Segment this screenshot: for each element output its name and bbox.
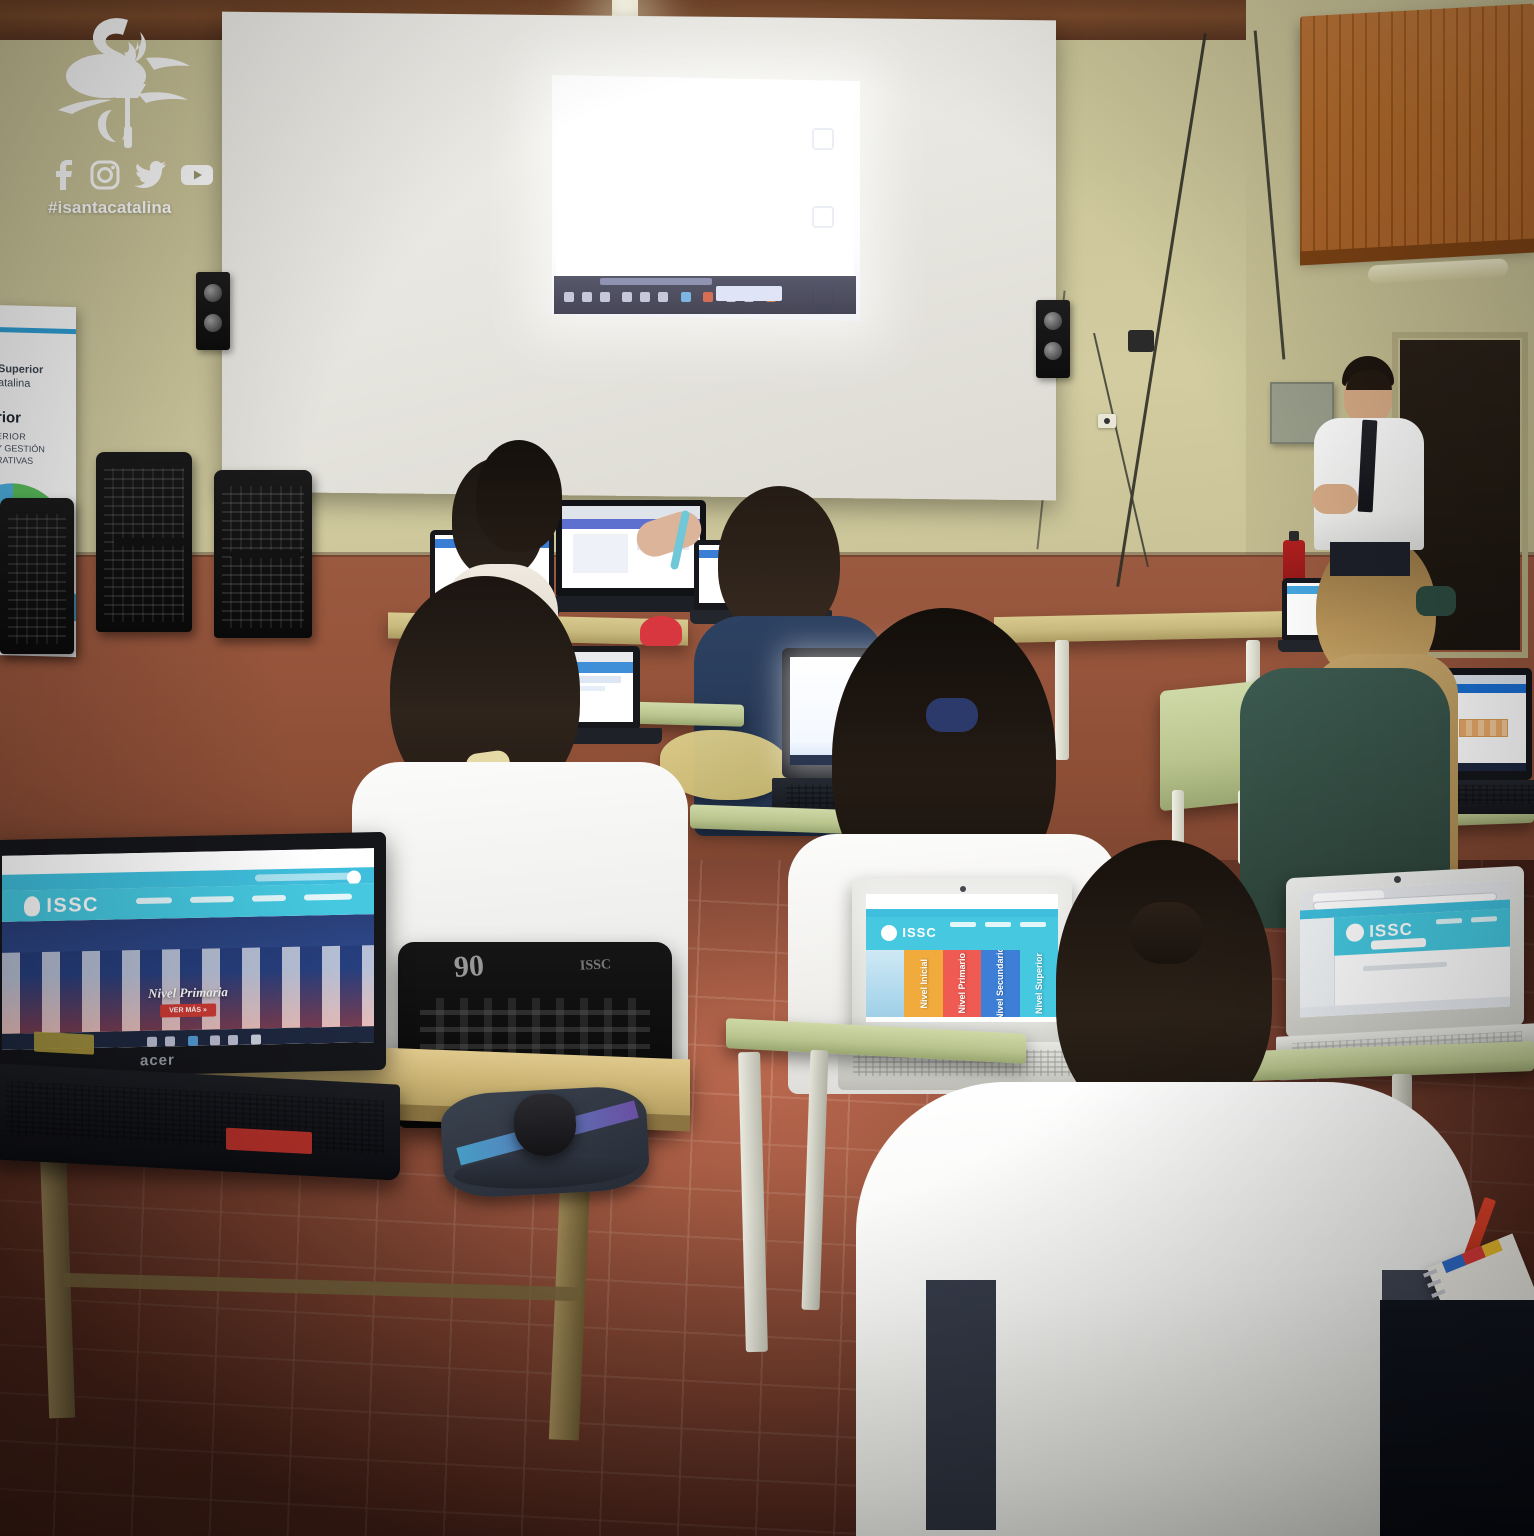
banner-line3: rior	[0, 409, 21, 427]
chair-number-marking: 90	[453, 949, 485, 985]
watermark-hashtag: #isantacatalina	[48, 198, 244, 218]
red-cup	[640, 616, 682, 646]
banner-line1: Superior	[0, 363, 43, 376]
banner-line2: atalina	[0, 377, 30, 390]
twitter-icon[interactable]	[134, 160, 166, 190]
webcam-icon	[1394, 876, 1401, 883]
social-icons-row	[50, 160, 244, 190]
youtube-icon[interactable]	[180, 162, 214, 188]
netbook-center-site-logo: ISSC	[902, 925, 1058, 940]
card-label-inicial: Nivel Inicial	[919, 959, 929, 1009]
laptop-sticker	[226, 1128, 312, 1155]
wood-wall-panel	[1300, 3, 1534, 256]
card-label-superior: Nivel Superior	[1034, 953, 1044, 1014]
issc-mark-icon	[881, 925, 897, 941]
wall-speaker-right	[1036, 300, 1070, 378]
card-label-secundario: Nivel Secundario	[995, 950, 1005, 1017]
acer-site-logo: ISSC	[46, 894, 99, 918]
card-label-primario: Nivel Primario	[957, 953, 967, 1014]
acer-hero-button[interactable]: VER MÁS »	[160, 1003, 216, 1017]
instructor-hands	[1312, 484, 1358, 514]
facebook-icon[interactable]	[50, 160, 76, 190]
instagram-icon[interactable]	[90, 160, 120, 190]
issc-flame-icon	[24, 896, 40, 916]
student-right-foreground	[1380, 1300, 1534, 1536]
banner-line4: ERIOR	[0, 431, 26, 442]
photo-canvas: Superior atalina rior ERIOR Y GESTIÓN RA…	[0, 0, 1534, 1536]
plastic-chairs-stack	[96, 452, 192, 632]
projected-page-sidebar	[812, 128, 834, 298]
banner-line6: RATIVAS	[0, 455, 33, 466]
wall-speaker-left	[196, 272, 230, 350]
chair-issc-marking: ISSC	[580, 957, 612, 975]
mount-screw-icon	[1104, 418, 1110, 424]
wall-camera	[1128, 330, 1154, 352]
laptop-label	[34, 1032, 94, 1055]
projected-url-text	[600, 278, 712, 285]
desk-leg	[1055, 640, 1069, 760]
chair-back-behind-student	[926, 1280, 996, 1530]
projected-input-field	[716, 286, 782, 301]
sc-monogram-emblem-icon	[50, 14, 200, 154]
plastic-chairs-stack	[214, 470, 312, 638]
hair-bun	[1130, 902, 1204, 964]
face-mask	[1416, 586, 1456, 616]
issc-mark-icon	[1346, 923, 1364, 942]
instructor-trousers	[1330, 542, 1410, 576]
plastic-chair	[0, 498, 74, 654]
acer-brand-logo: acer	[140, 1052, 175, 1070]
hair-scrunchie	[926, 698, 978, 732]
isantacatalina-watermark: #isantacatalina	[34, 14, 244, 218]
projected-page-body	[556, 82, 854, 277]
acer-screen[interactable]: ISSC Nivel Primaria VER MÁS »	[2, 848, 374, 1050]
banner-line5: Y GESTIÓN	[0, 443, 45, 454]
webcam-icon	[960, 886, 966, 892]
